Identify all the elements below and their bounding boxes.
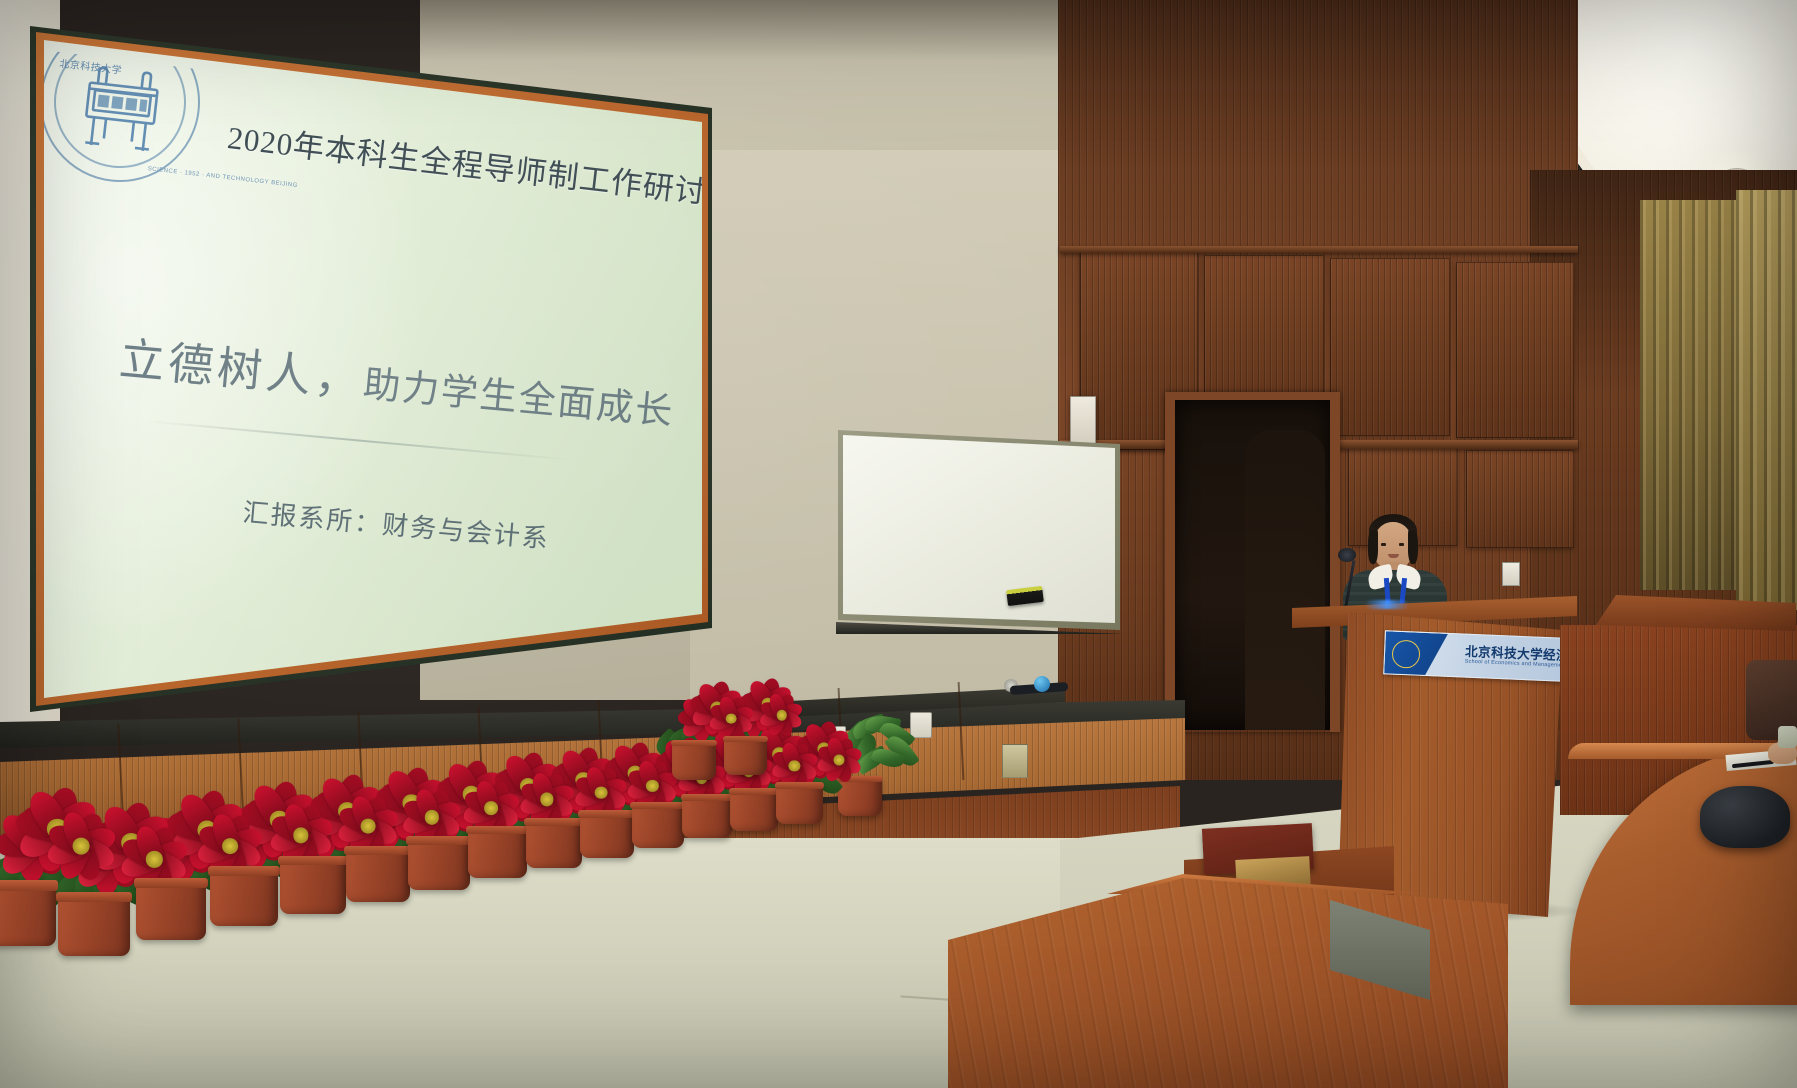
- speaker-hair-right: [1408, 530, 1418, 564]
- slide-headline: 立德树人，助力学生全面成长: [117, 322, 678, 437]
- wood-panel: [1330, 258, 1450, 436]
- flower-pot: [58, 892, 130, 956]
- flower-pot: [136, 878, 206, 940]
- slide-headline-part2: 助力学生全面成长: [361, 364, 675, 433]
- poinsettia-center: [726, 713, 737, 724]
- wood-panel: [1466, 450, 1574, 548]
- flower-pot: [672, 740, 716, 780]
- speaker-eye-right: [1399, 543, 1404, 546]
- desk-small-items: [1010, 676, 1084, 698]
- podium-nameplate: 北京科技大学经济管理学院 School of Economics and Man…: [1383, 630, 1565, 681]
- flower-pot: [682, 794, 732, 838]
- speaker-eye-left: [1381, 543, 1386, 546]
- poinsettia-center: [484, 802, 498, 816]
- flower-pot: [526, 818, 582, 868]
- window-curtain-edge: [1736, 190, 1797, 610]
- flower-pot: [280, 856, 346, 914]
- slide-subtitle: 汇报系所：财务与会计系: [241, 492, 551, 556]
- flower-pot: [210, 866, 278, 926]
- logo-en-arc: SCIENCE · 1952 · AND TECHNOLOGY BEIJING: [147, 166, 298, 189]
- backpack-on-table[interactable]: [1700, 786, 1790, 848]
- wood-panel: [1456, 262, 1574, 438]
- flower-pot: [730, 788, 778, 831]
- poinsettia-bloom: [758, 691, 806, 739]
- wall-rail-upper: [1060, 246, 1578, 253]
- whiteboard-surface[interactable]: [843, 435, 1115, 625]
- flower-pot: [408, 836, 470, 890]
- attendee-sleeve: [1778, 726, 1797, 748]
- power-outlet[interactable]: [910, 712, 932, 738]
- poinsettia-bloom: [43, 808, 120, 885]
- flower-pot: [580, 810, 634, 858]
- speaker-hair-left: [1368, 530, 1378, 564]
- window-curtain: [1640, 200, 1750, 590]
- flower-pot: [776, 782, 823, 824]
- poinsettia-center: [222, 838, 238, 854]
- slide-headline-part1: 立德树人，: [117, 334, 366, 406]
- podium-led-strip: [1365, 600, 1409, 609]
- flower-pot: [468, 826, 527, 878]
- flower-pot: [724, 736, 767, 775]
- wall-shadow: [420, 0, 1060, 60]
- poinsettia-center: [73, 838, 90, 855]
- poinsettia-center: [361, 819, 376, 834]
- poinsettia-center: [595, 786, 608, 799]
- blue-object: [1034, 676, 1050, 692]
- poinsettia-bloom: [814, 735, 864, 785]
- flower-pot: [0, 880, 56, 946]
- light-switch-plate[interactable]: [1502, 562, 1520, 586]
- wall-box-panel: [1002, 744, 1028, 778]
- conference-hall-photo: 北京科技大学 SCIENCE · 1952 · AND TECHNOLOGY B…: [0, 0, 1797, 1088]
- slide-divider-rule: [145, 420, 573, 461]
- door-leaf[interactable]: [1245, 430, 1325, 730]
- poinsettia-center: [833, 755, 844, 766]
- flower-pot: [632, 802, 684, 848]
- flower-pot: [346, 846, 410, 902]
- slide-event-title: 2020年本科生全程导师制工作研讨会: [225, 112, 741, 216]
